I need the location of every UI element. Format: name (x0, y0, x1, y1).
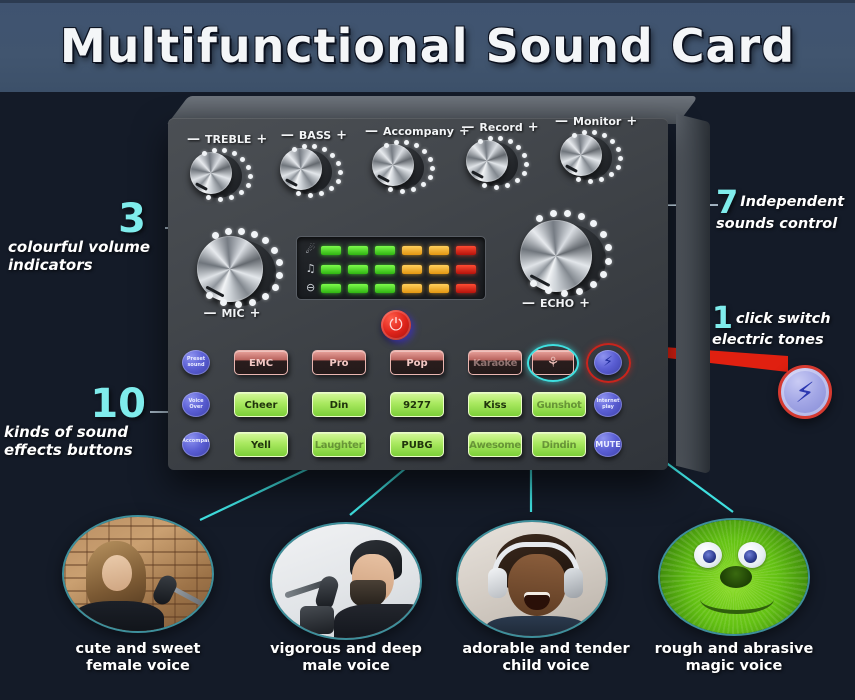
photo-content (458, 522, 606, 636)
knob-label-mic: —MIC+ (184, 306, 280, 321)
button-mute[interactable]: MUTE (594, 432, 622, 457)
annotation-electric-tones: 1 click switch electric tones (712, 306, 855, 348)
music-icon: ♫ (303, 262, 318, 276)
mouth (700, 584, 774, 614)
led-indicator (456, 284, 476, 293)
led-indicator (456, 246, 476, 255)
button-row-effects-1: Voice Over Cheer Din 9277 Kiss Gunshot I… (182, 392, 658, 418)
page-title: Multifunctional Sound Card (0, 19, 855, 73)
highlight-ring-voice-change (527, 344, 579, 382)
led-indicator (321, 246, 341, 255)
pupil (703, 550, 716, 563)
face (102, 555, 132, 591)
knob-label-monitor: —Monitor+ (550, 114, 642, 129)
led-indicator (375, 246, 395, 255)
button-cheer[interactable]: Cheer (234, 392, 288, 417)
button-row-effects-2: Accompany Yell Laughter PUBG Awesome Din… (182, 432, 658, 458)
button-accompany[interactable]: Accompany (182, 432, 210, 457)
knob-label-accompany: —Accompany+ (360, 124, 454, 139)
annotation-line-1: colourful volume (8, 238, 168, 256)
caption-line-1: cute and sweet (38, 641, 238, 658)
led-row-music: ♫ (303, 261, 483, 277)
annotation-number-3: 3 (8, 200, 168, 238)
button-pro[interactable]: Pro (312, 350, 366, 375)
device-side-panel (676, 114, 710, 474)
led-indicator (348, 246, 368, 255)
torso (486, 616, 586, 638)
power-button[interactable]: ⏻ (381, 310, 411, 340)
knob-label-echo: —ECHO+ (504, 296, 608, 311)
volume-indicator-panel: ☄ ♫ ⊖ (296, 236, 486, 300)
magnified-electric-tone-button[interactable]: ⚡ (778, 365, 832, 419)
led-indicator (402, 246, 422, 255)
led-indicator (375, 265, 395, 274)
led-indicator (321, 265, 341, 274)
torso (334, 604, 422, 640)
led-indicator (429, 265, 449, 274)
led-indicator (429, 284, 449, 293)
knob-scale-dots (282, 144, 346, 200)
knob-scale-dots (518, 210, 618, 304)
knob-label-record: —Record+ (456, 120, 544, 135)
led-indicator (375, 284, 395, 293)
sound-card-device: —TREBLE+ —BASS+ (168, 110, 688, 475)
led-indicator (348, 265, 368, 274)
knob-scale-dots (562, 130, 626, 186)
highlight-ring-electric-tone (586, 343, 631, 383)
button-laughter[interactable]: Laughter (312, 432, 366, 457)
knob-scale-dots (374, 140, 438, 196)
led-row-microphone: ☄ (303, 242, 483, 258)
button-pubg[interactable]: PUBG (390, 432, 444, 457)
microphone-icon: ☄ (303, 243, 318, 257)
caption-line-2: female voice (38, 658, 238, 675)
infographic-canvas: Multifunctional Sound Card —TREBLE+ (0, 0, 855, 700)
annotation-line-2: sounds control (716, 216, 855, 232)
caption-line-1: vigorous and deep (246, 641, 446, 658)
headphone-icon (564, 568, 583, 598)
annotation-line-1: click switch (733, 306, 831, 327)
led-row-headphone: ⊖ (303, 280, 483, 296)
button-awesome[interactable]: Awesome (468, 432, 522, 457)
button-din[interactable]: Din (312, 392, 366, 417)
button-internet-play[interactable]: Internet play (594, 392, 622, 417)
caption-line-2: male voice (246, 658, 446, 675)
led-indicator (348, 284, 368, 293)
knob-treble[interactable]: —TREBLE+ (182, 132, 266, 204)
eye (738, 542, 766, 568)
photo-child-voice (456, 520, 608, 638)
caption-line-2: child voice (446, 658, 646, 675)
button-gunshot[interactable]: Gunshot (532, 392, 586, 417)
caption-magic-voice: rough and abrasive magic voice (634, 641, 834, 675)
button-pop[interactable]: Pop (390, 350, 444, 375)
button-kiss[interactable]: Kiss (468, 392, 522, 417)
photo-content (660, 520, 808, 634)
button-preset-sound[interactable]: Preset sound (182, 350, 210, 375)
caption-line-1: adorable and tender (446, 641, 646, 658)
led-indicator (321, 284, 341, 293)
shock-mount (300, 606, 334, 634)
annotation-volume-indicators: 3 colourful volume indicators (8, 200, 168, 274)
annotation-line-1: Independent (738, 188, 844, 210)
knob-mic[interactable]: —MIC+ (184, 218, 292, 326)
caption-male-voice: vigorous and deep male voice (246, 641, 446, 675)
annotation-line-2: electric tones (712, 332, 855, 348)
caption-female-voice: cute and sweet female voice (38, 641, 238, 675)
button-emc[interactable]: EMC (234, 350, 288, 375)
knob-accompany[interactable]: —Accompany+ (360, 124, 454, 196)
led-indicator (456, 265, 476, 274)
button-yell[interactable]: Yell (234, 432, 288, 457)
knob-bass[interactable]: —BASS+ (272, 128, 356, 200)
annotation-number-10: 10 (4, 385, 154, 423)
headphone-icon (488, 568, 507, 598)
knob-scale-dots (468, 136, 532, 192)
annotation-number-7: 7 (716, 188, 738, 216)
pupil (744, 550, 757, 563)
torso (72, 601, 164, 633)
device-front-panel: —TREBLE+ —BASS+ (168, 118, 668, 470)
led-indicator (429, 246, 449, 255)
photo-content (272, 524, 420, 638)
annotation-line-2: indicators (8, 256, 168, 274)
knob-record[interactable]: —Record+ (456, 120, 544, 192)
knob-scale-dots (192, 148, 256, 204)
button-9277[interactable]: 9277 (390, 392, 444, 417)
photo-female-voice (62, 515, 214, 633)
caption-child-voice: adorable and tender child voice (446, 641, 646, 675)
annotation-sound-effects: 10 kinds of sound effects buttons (4, 385, 154, 459)
photo-magic-voice (658, 518, 810, 636)
caption-line-1: rough and abrasive (634, 641, 834, 658)
caption-line-2: magic voice (634, 658, 834, 675)
title-banner: Multifunctional Sound Card (0, 0, 855, 92)
button-karaoke[interactable]: Karaoke (468, 350, 522, 375)
knob-monitor[interactable]: —Monitor+ (550, 114, 642, 186)
annotation-independent-sounds: 7 Independent sounds control (716, 188, 855, 232)
photo-content (64, 517, 212, 631)
button-dindin[interactable]: Dindin (532, 432, 586, 457)
knob-label-bass: —BASS+ (272, 128, 356, 143)
annotation-number-1: 1 (712, 306, 733, 332)
led-indicator (402, 265, 422, 274)
button-voice-over[interactable]: Voice Over (182, 392, 210, 417)
annotation-line-2: effects buttons (4, 441, 154, 459)
knob-label-treble: —TREBLE+ (182, 132, 266, 147)
eye (694, 542, 722, 568)
button-row-preset: Preset sound EMC Pro Pop Karaoke ⚘ ⚡ (182, 350, 658, 376)
photo-male-voice (270, 522, 422, 640)
led-indicator (402, 284, 422, 293)
headphone-icon: ⊖ (303, 281, 318, 295)
knob-scale-dots (196, 228, 288, 314)
knob-echo[interactable]: —ECHO+ (504, 200, 622, 318)
